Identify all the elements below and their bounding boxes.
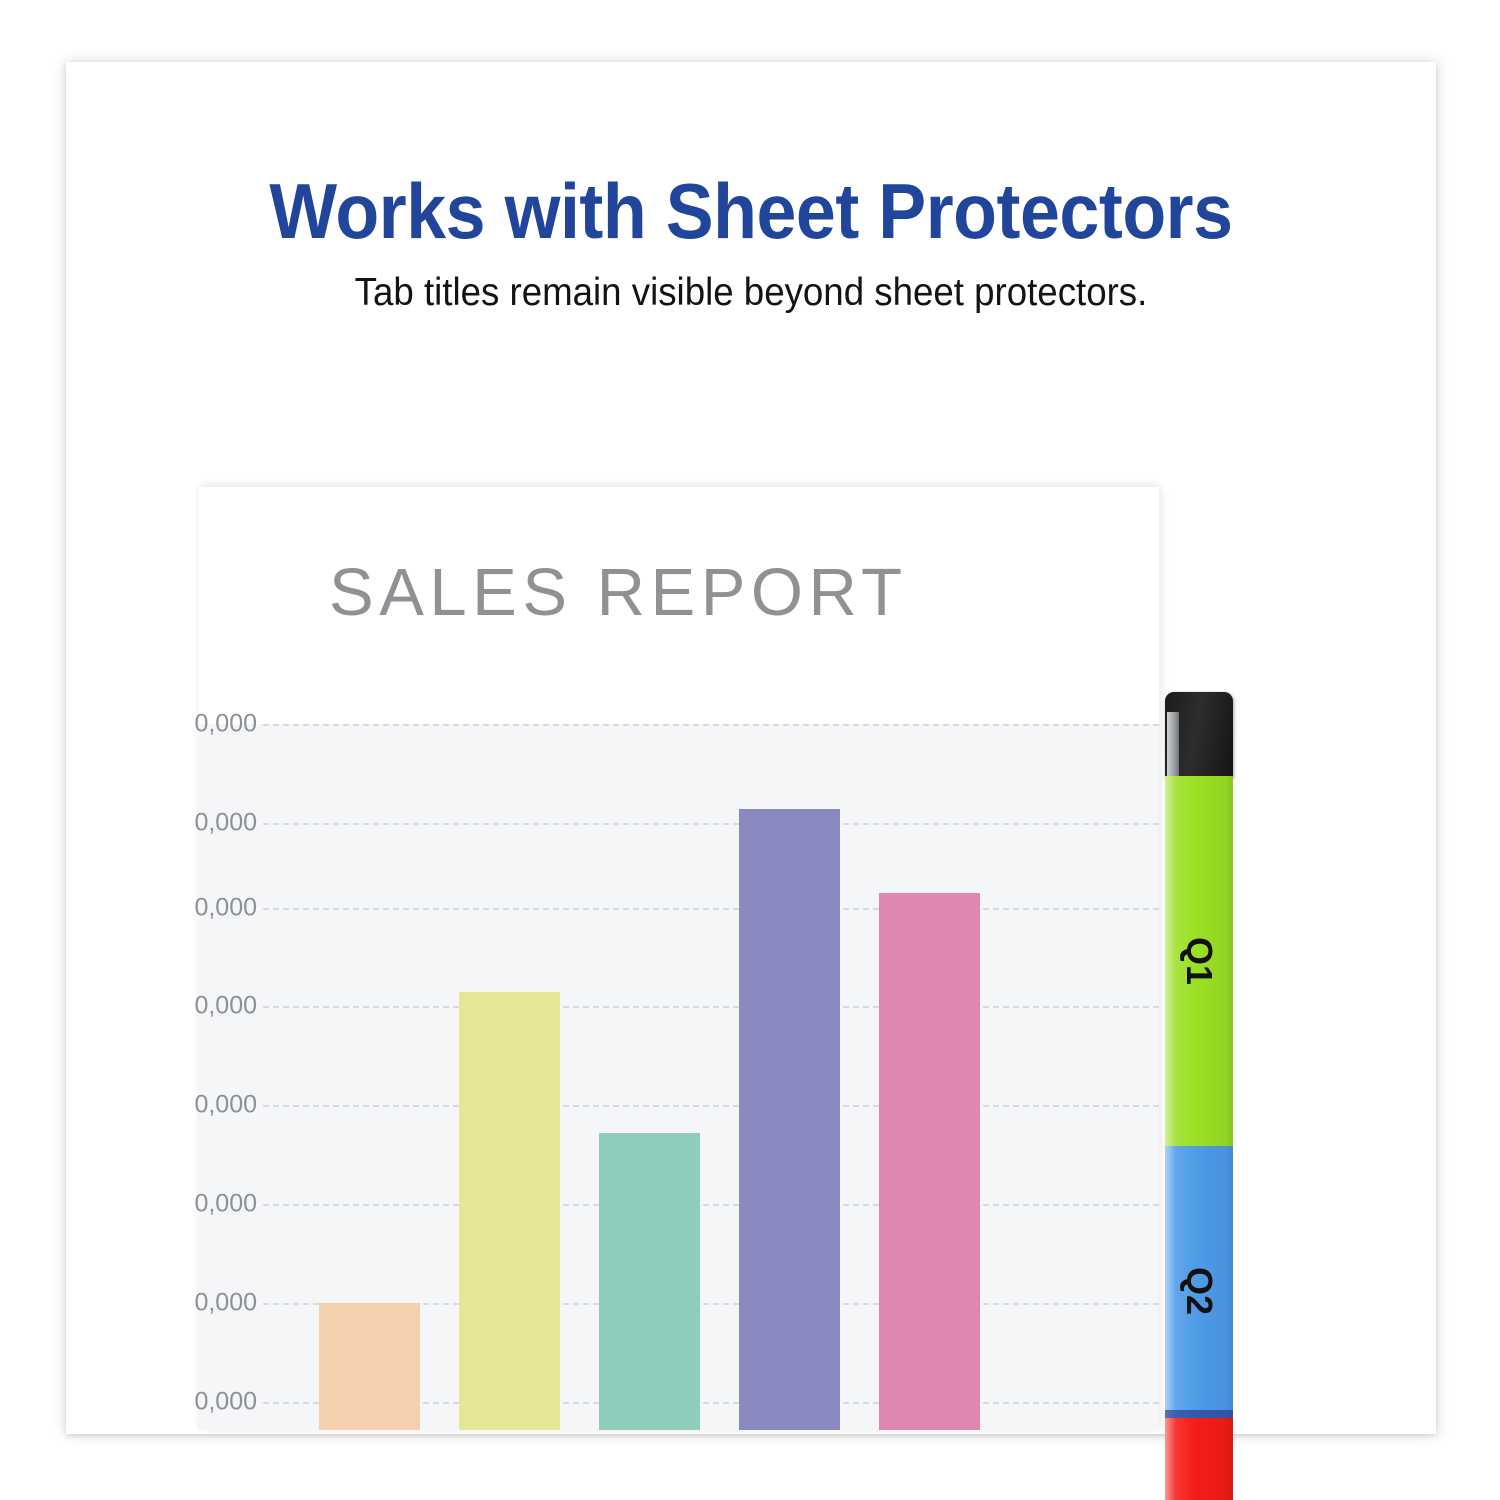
sheet-title: SALES REPORT (329, 559, 908, 626)
sales-bar-chart: 0,0000,0000,0000,0000,0000,0000,0000,000 (199, 724, 1159, 1430)
binder-clip-icon (1165, 692, 1233, 778)
product-card: Works with Sheet Protectors Tab titles r… (66, 62, 1436, 1434)
tab-red-body[interactable] (1165, 1418, 1233, 1500)
chart-bars (199, 724, 1159, 1430)
tab-dividers: Q1Q2 (1159, 692, 1237, 1450)
bar-4-purple (739, 809, 840, 1430)
tab-label: Q2 (1178, 1267, 1220, 1315)
bar-3-teal (599, 1133, 700, 1430)
report-sheet: SALES REPORT 0,0000,0000,0000,0000,0000,… (199, 487, 1159, 1430)
product-image-canvas: Works with Sheet Protectors Tab titles r… (0, 0, 1500, 1500)
tab-gloss (1165, 1418, 1233, 1500)
tab-label: Q1 (1178, 937, 1220, 985)
page-title: Works with Sheet Protectors (121, 172, 1381, 250)
headline-block: Works with Sheet Protectors Tab titles r… (66, 172, 1436, 315)
page-subtitle: Tab titles remain visible beyond sheet p… (107, 272, 1395, 315)
tab-q1[interactable]: Q1 (1165, 776, 1233, 1146)
bar-2-yellow (459, 992, 560, 1430)
bar-5-pink (879, 893, 980, 1430)
bar-1-peach (319, 1303, 420, 1430)
binder-clip-slit (1167, 712, 1179, 778)
tab-q2[interactable]: Q2 (1165, 1146, 1233, 1436)
